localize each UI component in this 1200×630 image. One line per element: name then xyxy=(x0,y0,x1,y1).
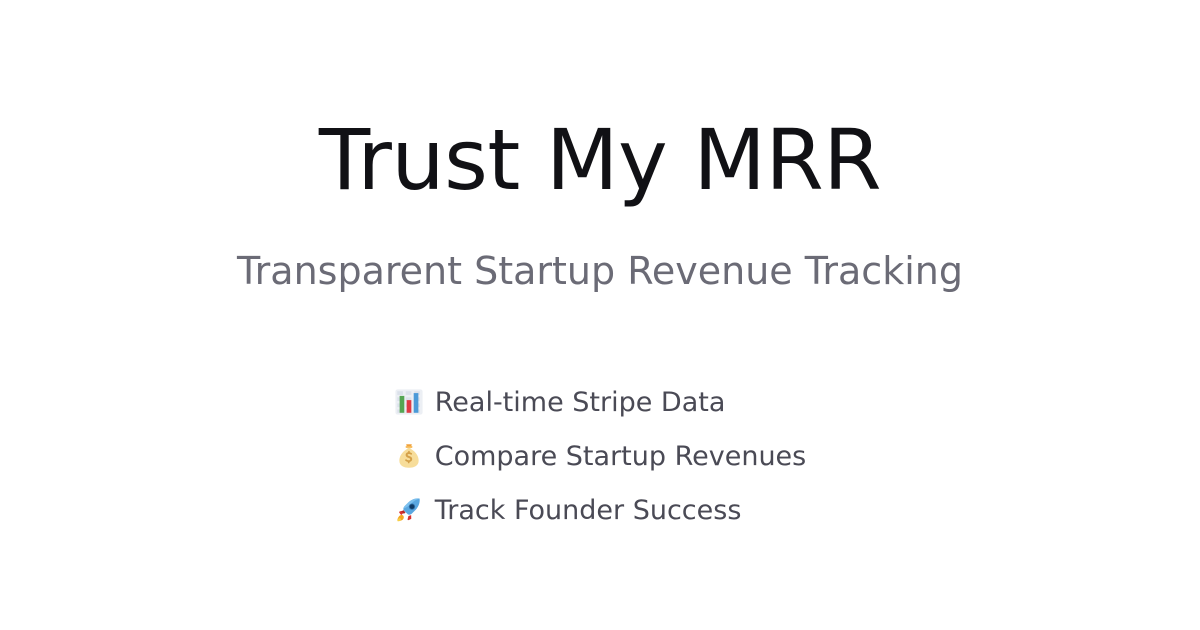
bar-chart-icon xyxy=(394,387,424,417)
feature-label: Compare Startup Revenues xyxy=(435,443,807,470)
feature-item-compare-startup-revenues: Compare Startup Revenues xyxy=(394,429,807,483)
feature-list: Real-time Stripe Data Compare Startup Re… xyxy=(0,375,1200,537)
feature-item-track-founder-success: Track Founder Success xyxy=(394,483,742,537)
page-title: Trust My MRR xyxy=(0,118,1200,202)
feature-label: Track Founder Success xyxy=(435,497,742,524)
feature-rows: Real-time Stripe Data Compare Startup Re… xyxy=(394,375,807,537)
page-subtitle: Transparent Startup Revenue Tracking xyxy=(0,252,1200,290)
og-card: Trust My MRR Transparent Startup Revenue… xyxy=(0,0,1200,630)
feature-item-realtime-stripe-data: Real-time Stripe Data xyxy=(394,375,726,429)
money-bag-icon xyxy=(394,441,424,471)
feature-label: Real-time Stripe Data xyxy=(435,389,726,416)
rocket-icon xyxy=(394,495,424,525)
